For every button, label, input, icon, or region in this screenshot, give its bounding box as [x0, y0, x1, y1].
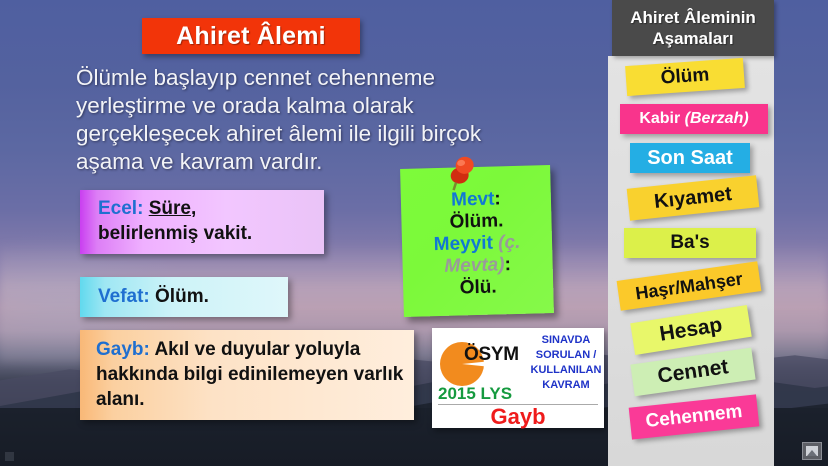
osym-logo: ÖSYM: [436, 332, 530, 390]
sticky-note-mevt: Mevt: Ölüm. Meyyit (ç. Mevta): Ölü.: [400, 165, 554, 317]
slide-title: Ahiret Âlemi: [176, 22, 326, 51]
definition-ecel-comma: ,: [191, 198, 196, 219]
stage-note-2[interactable]: Kabir (Berzah): [620, 104, 768, 134]
note-line2: Ölüm.: [449, 210, 503, 232]
note-paren-close: Mevta): [444, 254, 505, 277]
definition-underline-ecel: Süre: [149, 198, 191, 219]
stage-note-label: Kıyamet: [653, 182, 733, 213]
sticky-note-text: Mevt: Ölüm. Meyyit (ç. Mevta): Ölü.: [401, 187, 554, 301]
osym-brand: ÖSYM: [464, 344, 519, 366]
stage-note-3[interactable]: Son Saat: [630, 143, 750, 173]
definition-key-vefat: Vefat:: [98, 286, 150, 307]
definition-box-gayb: Gayb: Akıl ve duyular yoluyla hakkında b…: [80, 330, 414, 420]
osym-year-label: 2015 LYS: [438, 384, 512, 404]
osym-caption: SINAVDA SORULAN / KULLANILAN KAVRAM: [530, 333, 602, 393]
corner-marker-icon: [5, 452, 14, 461]
stage-note-label: Kabir (Berzah): [639, 110, 748, 128]
stage-note-label: Ba's: [670, 232, 709, 254]
slide-canvas: Ahiret Âlemi Ölümle başlayıp cennet cehe…: [0, 0, 828, 466]
definition-key-gayb: Gayb:: [96, 339, 150, 360]
osym-concept-box: ÖSYM 2015 LYS SINAVDA SORULAN / KULLANIL…: [432, 328, 604, 428]
image-placeholder-icon: [802, 442, 822, 460]
definition-box-ecel: Ecel: Süre, belirlenmiş vakit.: [80, 190, 324, 254]
note-colon-1: :: [494, 188, 501, 209]
stage-note-label: Ölüm: [660, 64, 710, 89]
slide-title-banner: Ahiret Âlemi: [142, 18, 360, 54]
image-placeholder-glyph: [806, 446, 818, 456]
note-colon-2: :: [504, 254, 511, 275]
definition-ecel-line2: belirlenmiş vakit.: [98, 223, 252, 244]
definition-key-ecel: Ecel:: [98, 198, 143, 219]
stage-note-label: Cennet: [656, 355, 730, 389]
stage-note-label: Son Saat: [647, 147, 733, 170]
note-key-meyyit: Meyyit: [433, 233, 493, 256]
note-key-mevt: Mevt: [451, 189, 495, 211]
stages-panel-header: Ahiret Âleminin Aşamaları: [612, 0, 774, 56]
osym-concept-label: Gayb: [432, 404, 604, 430]
note-paren-open: (ç.: [498, 232, 521, 254]
stage-note-5[interactable]: Ba's: [624, 228, 756, 258]
definition-value-vefat: Ölüm.: [155, 286, 209, 307]
stages-panel-title: Ahiret Âleminin Aşamaları: [612, 7, 774, 49]
stage-note-label: Cehennem: [645, 401, 744, 433]
note-line5: Ölü.: [459, 277, 496, 299]
intro-paragraph: Ölümle başlayıp cennet cehenneme yerleşt…: [76, 64, 496, 176]
definition-box-vefat: Vefat: Ölüm.: [80, 277, 288, 317]
stage-note-label: Hesap: [658, 313, 724, 347]
